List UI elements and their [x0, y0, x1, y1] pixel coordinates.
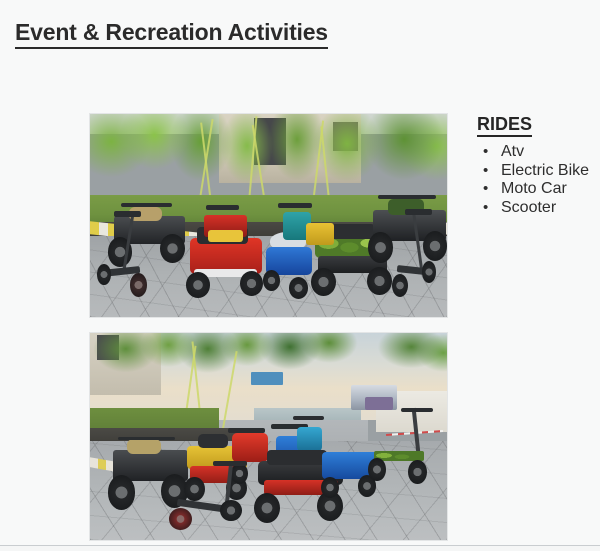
photo-2-scene — [90, 333, 447, 540]
list-item: • Moto Car — [477, 180, 600, 199]
slide-canvas: Event & Recreation Activities — [0, 0, 600, 546]
list-item: • Scooter — [477, 199, 600, 218]
page-title: Event & Recreation Activities — [15, 18, 328, 49]
bullet-icon: • — [483, 180, 488, 199]
vehicle-scooter-camo-right — [368, 408, 439, 495]
rides-heading: RIDES — [477, 114, 532, 137]
vehicle-scooter-right — [390, 209, 447, 298]
vehicle-scooter-foreground — [169, 461, 258, 536]
vehicle-small-yellow — [304, 216, 336, 253]
photo-1-scene — [90, 114, 447, 317]
list-item-label: Electric Bike — [501, 162, 589, 179]
list-item-label: Scooter — [501, 199, 556, 216]
rides-list: • Atv • Electric Bike • Moto Car • Scoot… — [477, 143, 600, 217]
bullet-icon: • — [483, 199, 488, 218]
list-item-label: Moto Car — [501, 180, 567, 197]
list-item: • Electric Bike — [477, 162, 600, 181]
bullet-icon: • — [483, 162, 488, 181]
photo-rides-lineup-seaside — [89, 332, 448, 541]
blue-signboard — [251, 372, 283, 384]
list-item-label: Atv — [501, 143, 524, 160]
list-item: • Atv — [477, 143, 600, 162]
vehicle-scooter-left — [97, 211, 154, 296]
vehicle-quad-red-yellow — [201, 205, 251, 250]
bullet-icon: • — [483, 143, 488, 162]
photo-rides-lineup-daytime — [89, 113, 448, 318]
rides-panel: RIDES • Atv • Electric Bike • Moto Car •… — [477, 114, 600, 217]
page-bottom-strip — [0, 546, 600, 551]
